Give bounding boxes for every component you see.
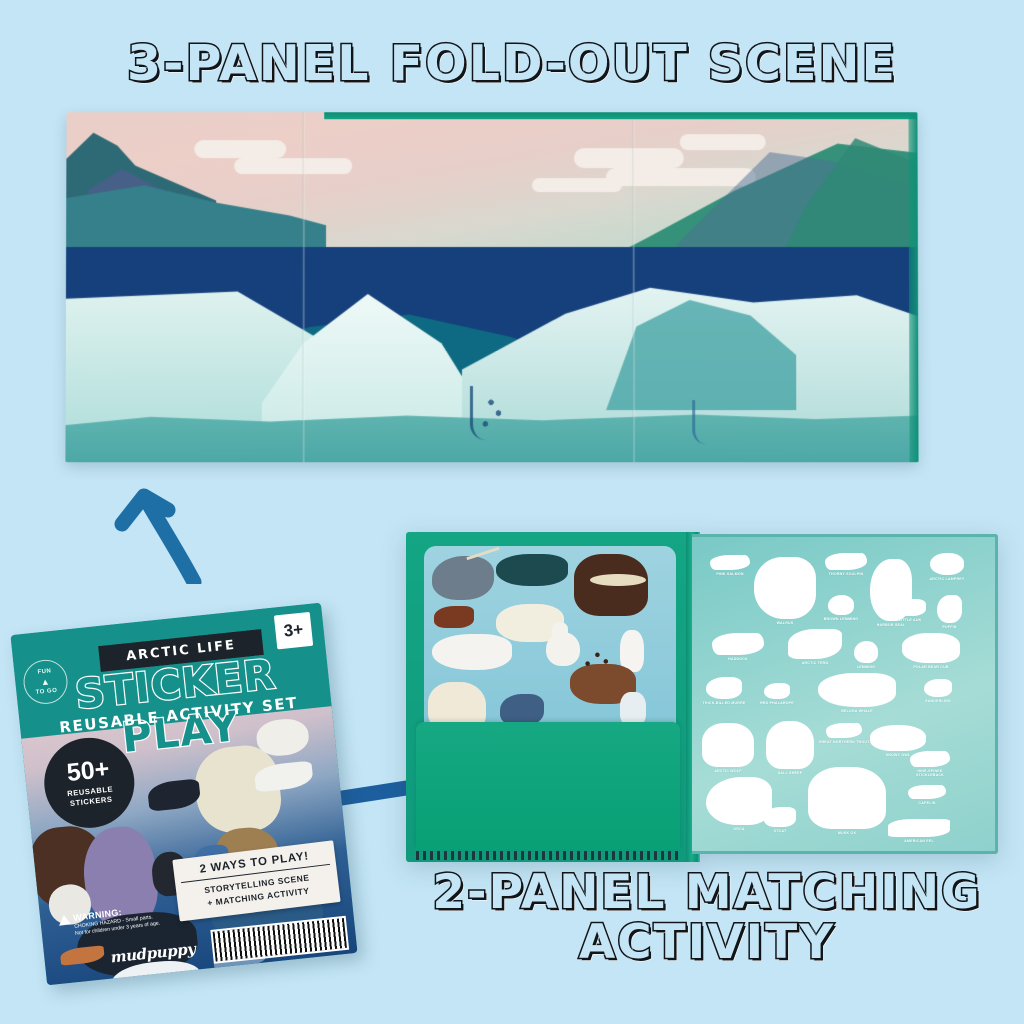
seaweed (470, 386, 514, 440)
cloud-1 (194, 140, 286, 158)
sticker-stoat (434, 606, 474, 628)
silhouette-label: DALL SHEEP (756, 771, 824, 775)
infographic-canvas: 3-PANEL FOLD-OUT SCENE (0, 0, 1024, 1024)
silhouette-label: LEMMING (844, 665, 888, 669)
silhouette-american-eel (888, 819, 950, 837)
silhouette-label: HADDOCK (702, 657, 774, 661)
silhouette-label: AMERICAN EEL (878, 839, 960, 843)
silhouette-orca (706, 777, 772, 825)
silhouette-label: THICK-BILLED MURRE (696, 701, 752, 705)
silhouette-label: ARCTIC LAMPREY (920, 577, 974, 581)
cloud-5 (680, 134, 766, 150)
folder-pocket (416, 722, 680, 850)
cloud-4 (606, 168, 756, 186)
silhouette-dall-sheep (766, 721, 814, 769)
cover-animal-penguin (147, 778, 202, 811)
sticker-wolf-pup (620, 692, 646, 726)
silhouette-label: ARCTIC TERN (778, 661, 852, 665)
silhouette-nine-spined-stickleback (910, 751, 950, 767)
silhouette-panel: PINK SALMONWALRUSTHORNY SCULPINARCTIC LA… (692, 534, 998, 854)
sticker-harp-seal (432, 556, 494, 600)
silhouette-label: BELUGA WHALE (808, 709, 906, 713)
perforated-edge (416, 851, 680, 860)
silhouette-snowy-owl (870, 725, 926, 751)
silhouette-stoat (764, 807, 796, 827)
sticker-narwhal (496, 554, 568, 586)
fold-line-left (302, 112, 305, 462)
silhouette-musk-ox (808, 767, 886, 829)
silhouette-red-phalarope (764, 683, 790, 699)
sticker-beluga-whale (432, 634, 512, 670)
silhouette-beluga-whale (818, 673, 896, 707)
silhouette-grid: PINK SALMONWALRUSTHORNY SCULPINARCTIC LA… (692, 537, 995, 851)
silhouette-haddock (712, 633, 764, 655)
matching-activity-image: PINK SALMONWALRUSTHORNY SCULPINARCTIC LA… (406, 532, 998, 862)
foldout-scene-image (65, 112, 918, 462)
sticker-musk-ox-horns (590, 574, 646, 586)
sticker-count-number: 50+ (66, 757, 111, 786)
silhouette-thick-billed-murre (706, 677, 742, 699)
product-box-cover: FUN ▲ TO GO 3+ ARCTIC LIFE STICKER PLAY … (10, 603, 357, 986)
sticker-count-label: REUSABLE STICKERS (67, 784, 115, 809)
cloud-3 (574, 148, 684, 168)
silhouette-label: PINK SALMON (700, 572, 760, 576)
silhouette-label: ARCTIC WOLF (692, 769, 764, 773)
cloud-6 (532, 178, 622, 192)
headline-matching: 2-PANEL MATCHING ACTIVITY (400, 868, 1014, 968)
silhouette-great-northern-trout (826, 723, 862, 738)
silhouette-walrus (754, 557, 816, 619)
sticker-arctic-hare (546, 632, 580, 666)
sticker-hare-ears (552, 622, 568, 636)
silhouette-label: POLAR BEAR CUB (892, 665, 970, 669)
silhouette-label: GREAT NORTHERN TROUT (816, 740, 872, 744)
cloud-2 (234, 158, 352, 174)
headline-foldout: 3-PANEL FOLD-OUT SCENE (0, 38, 1024, 90)
book-cover-right-edge (908, 112, 918, 462)
silhouette-polar-bear-cub (902, 633, 960, 663)
warning-triangle-icon (58, 914, 71, 925)
silhouette-label: RED PHALAROPE (754, 701, 800, 705)
silhouette-label: BROWN LEMMING (818, 617, 864, 621)
silhouette-label: LITTLE AUK (884, 618, 936, 622)
silhouette-label: HARBOR SEAL (860, 623, 922, 627)
silhouette-label: THORNY SCULPIN (815, 572, 877, 576)
silhouette-arctic-tern (788, 629, 842, 659)
fold-line-right (632, 112, 635, 462)
headline-matching-line2: ACTIVITY (400, 918, 1014, 968)
silhouette-label: CAPELIN (898, 801, 956, 805)
silhouette-arctic-lamprey (930, 553, 964, 575)
book-cover-top-edge (324, 112, 917, 119)
age-rating-badge: 3+ (274, 612, 313, 650)
silhouette-thorny-sculpin (825, 553, 867, 570)
silhouette-arctic-wolf (702, 723, 754, 767)
silhouette-little-auk (894, 599, 926, 616)
headline-matching-line1: 2-PANEL MATCHING (400, 868, 1014, 918)
silhouette-label: SANDERLING (914, 699, 962, 703)
silhouette-brown-lemming (828, 595, 854, 615)
silhouette-label: PUFFIN (927, 625, 972, 629)
arrow-to-foldout (98, 466, 208, 584)
silhouette-pink-salmon (710, 555, 750, 570)
seaweed-2 (692, 400, 718, 444)
silhouette-sanderling (924, 679, 952, 697)
silhouette-label: WALRUS (744, 621, 826, 625)
silhouette-puffin (937, 595, 962, 623)
silhouette-capelin (908, 785, 946, 799)
silhouette-label: MUSK OX (798, 831, 896, 835)
silhouette-lemming (854, 641, 878, 663)
sticker-sheet (424, 546, 676, 742)
silhouette-label: NINE-SPINED STICKLEBACK (900, 769, 960, 778)
sticker-caribou-antlers (582, 646, 610, 668)
